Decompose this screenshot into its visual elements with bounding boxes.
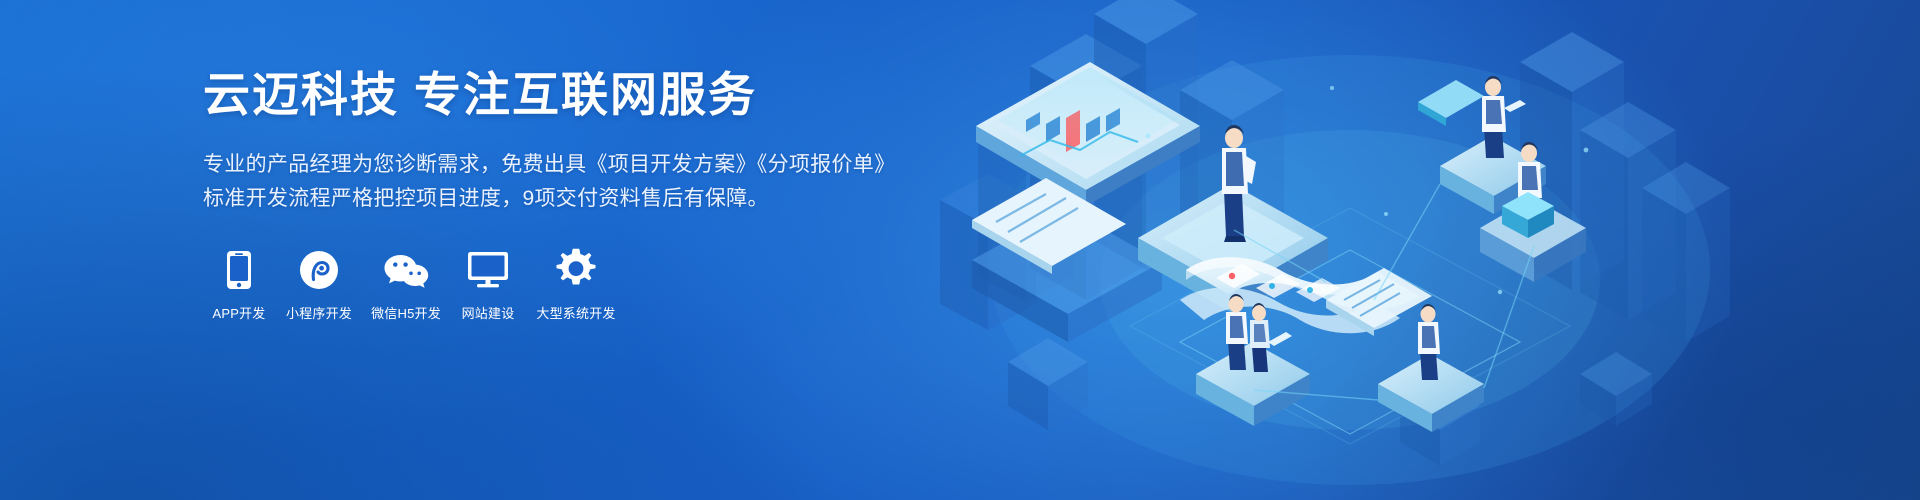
banner-content: 云迈科技 专注互联网服务 专业的产品经理为您诊断需求，免费出具《项目开发方案》《… [203, 68, 903, 322]
banner-subtitle: 专业的产品经理为您诊断需求，免费出具《项目开发方案》《分项报价单》 标准开发流程… [203, 148, 903, 216]
hero-banner: 云迈科技 专注互联网服务 专业的产品经理为您诊断需求，免费出具《项目开发方案》《… [0, 0, 1920, 500]
service-label-website: 网站建设 [462, 303, 515, 322]
service-item-wechat-h5[interactable]: 微信H5开发 [363, 244, 449, 322]
mobile-phone-icon [226, 244, 252, 290]
banner-subtitle-line-2: 标准开发流程严格把控项目进度，9项交付资料售后有保障。 [203, 182, 903, 216]
service-item-app[interactable]: APP开发 [203, 244, 275, 322]
mini-program-icon [299, 244, 339, 290]
service-list: APP开发 小程序开发 [203, 244, 903, 322]
service-item-large-system[interactable]: 大型系统开发 [527, 244, 625, 322]
service-label-large-system: 大型系统开发 [536, 303, 615, 322]
service-item-website[interactable]: 网站建设 [450, 244, 526, 322]
isometric-tech-illustration [880, 0, 1920, 500]
banner-subtitle-line-1: 专业的产品经理为您诊断需求，免费出具《项目开发方案》《分项报价单》 [203, 148, 903, 182]
monitor-icon [467, 244, 509, 290]
gear-icon [555, 244, 597, 290]
banner-headline: 云迈科技 专注互联网服务 [203, 68, 903, 122]
service-label-wechat-h5: 微信H5开发 [371, 303, 441, 322]
service-item-mini-program[interactable]: 小程序开发 [276, 244, 362, 322]
service-label-mini-program: 小程序开发 [286, 303, 352, 322]
wechat-icon [383, 244, 429, 290]
service-label-app: APP开发 [212, 303, 265, 322]
